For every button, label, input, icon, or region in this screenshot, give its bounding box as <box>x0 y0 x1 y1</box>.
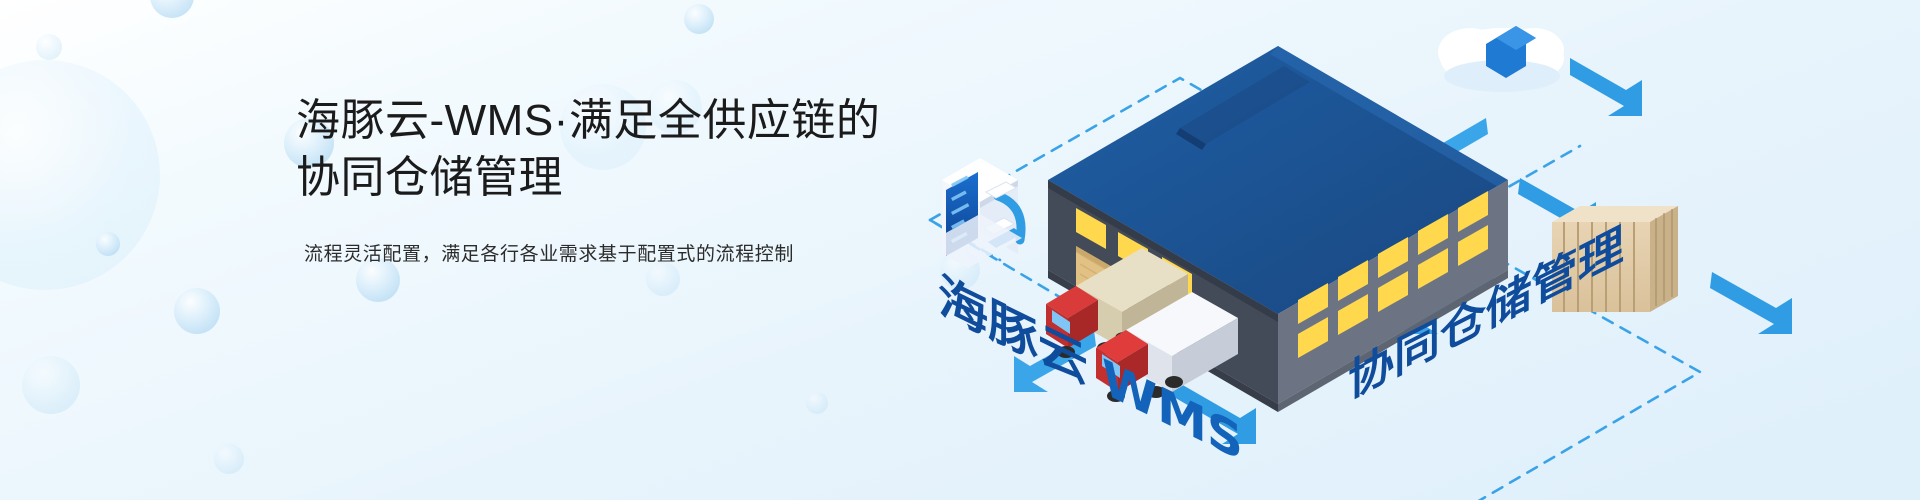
server-rack-icon <box>926 158 1022 268</box>
bubble-decoration <box>806 392 828 414</box>
bubble-decoration <box>36 34 62 60</box>
cloud-upload-icon <box>1438 26 1564 92</box>
hero-illustration: 海豚云 WMS 协同仓储管理 <box>880 0 1920 500</box>
bubble-decoration <box>22 356 80 414</box>
bubble-decoration <box>0 60 160 290</box>
bubble-decoration <box>214 444 244 474</box>
bubble-decoration <box>684 4 714 34</box>
bubble-decoration <box>150 0 194 18</box>
bubble-decoration <box>96 232 120 256</box>
bubble-decoration <box>174 288 220 334</box>
hero-banner: 海豚云-WMS·满足全供应链的 协同仓储管理 流程灵活配置，满足各行各业需求基于… <box>0 0 1920 500</box>
